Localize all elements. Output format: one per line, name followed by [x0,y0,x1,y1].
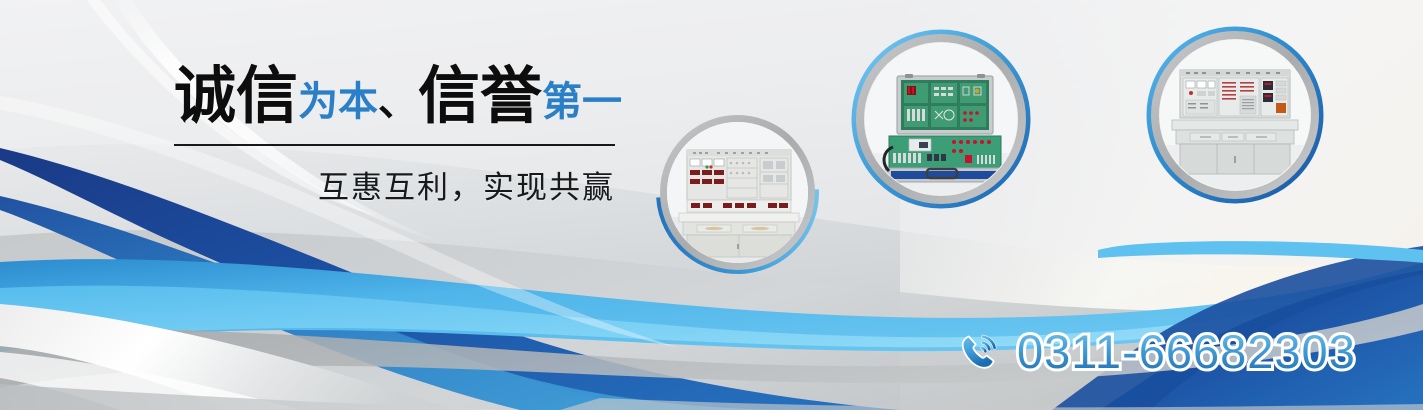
product-circle-workbench[interactable] [655,110,820,275]
phone-number-wrap: 0311-66682303 0311-66682303 [1017,328,1356,375]
slogan-block: 诚信 为本 、 信誉 第一 互惠互利，实现共赢 [174,66,634,207]
product-photo-control-bench [1160,40,1310,190]
headline-separator: 、 [378,82,418,122]
contact-phone-block[interactable]: 0311-66682303 0311-66682303 [955,327,1356,375]
headline-part-1: 诚信 [174,66,298,128]
promo-banner: 诚信 为本 、 信誉 第一 互惠互利，实现共赢 [0,0,1423,410]
subline: 互惠互利，实现共赢 [174,162,615,207]
phone-ringing-icon [955,327,1003,375]
phone-number: 0311-66682303 [1017,325,1356,378]
product-photo-training-case [865,43,1017,195]
headline-part-4: 第一 [542,82,622,122]
headline-part-3: 信誉 [418,66,542,128]
product-circle-control-bench[interactable] [1145,25,1325,205]
product-circle-training-case[interactable] [850,28,1032,210]
headline-divider [174,144,615,146]
headline: 诚信 为本 、 信誉 第一 [174,66,634,138]
headline-part-2: 为本 [298,82,378,122]
product-photo-workbench [667,122,808,263]
